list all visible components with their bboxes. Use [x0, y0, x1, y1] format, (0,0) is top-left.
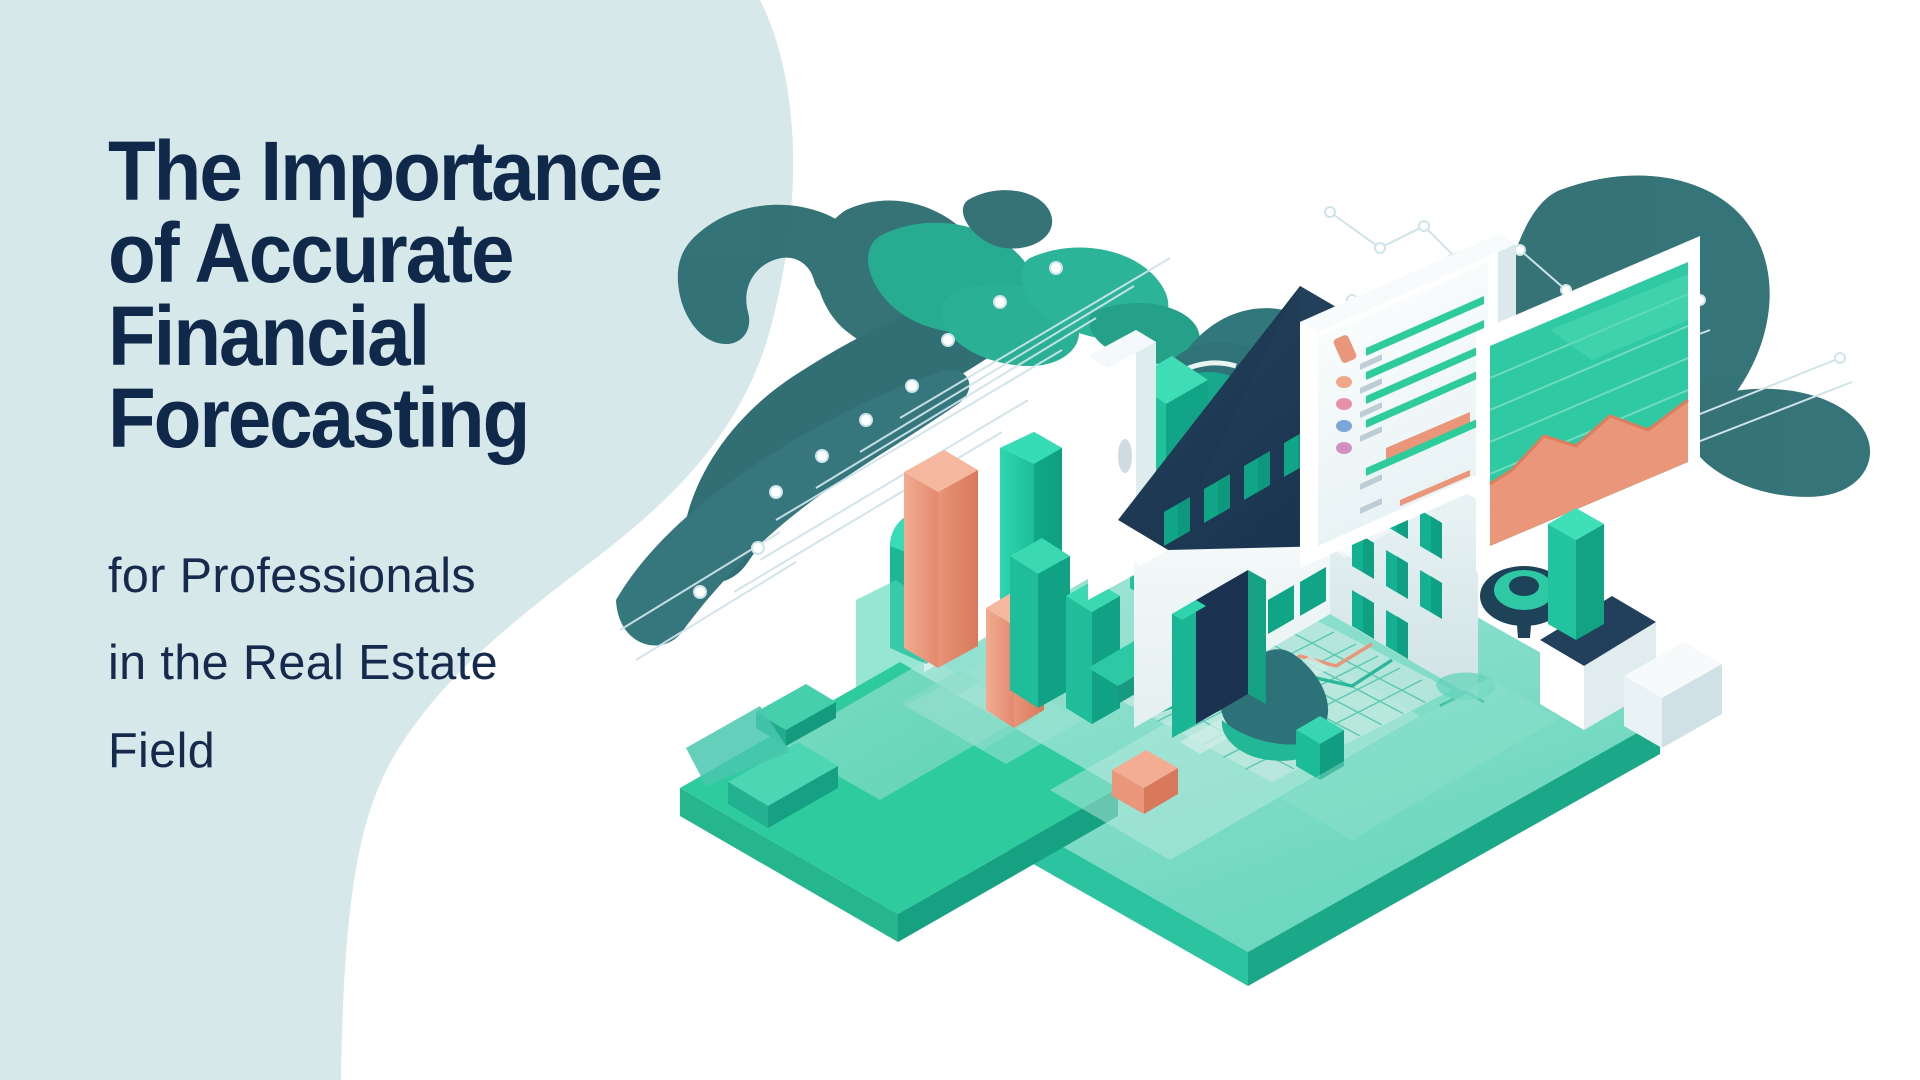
window-shade — [1363, 536, 1374, 579]
hero-text-block: The Importance of Accurate Financial For… — [108, 130, 958, 795]
swoosh-right-tail — [1687, 389, 1870, 497]
legend-dot-1 — [1336, 376, 1352, 388]
net-dot — [994, 296, 1006, 308]
window-shade — [1397, 556, 1408, 599]
house-door-frame-left — [1172, 600, 1196, 738]
legend-dot-4 — [1336, 442, 1352, 454]
net-dot — [1515, 245, 1525, 255]
window-shade — [1431, 576, 1442, 619]
front-right-foliage — [1548, 508, 1604, 640]
window-shade — [1397, 616, 1408, 659]
house-door-frame-right — [1248, 570, 1266, 704]
legend-dot-2 — [1336, 398, 1352, 410]
page-title: The Importance of Accurate Financial For… — [108, 130, 899, 459]
window-shade — [1218, 474, 1230, 515]
window-shade — [1178, 497, 1190, 538]
net-dot — [1419, 221, 1429, 231]
pillar-right-1 — [1038, 556, 1070, 708]
salmon-tower2-left — [986, 608, 1014, 728]
net-dot — [1050, 262, 1062, 274]
window-shade — [1258, 451, 1270, 492]
pillar-left-1 — [1010, 556, 1038, 708]
legend-dot-3 — [1336, 420, 1352, 432]
tree-col-left — [1548, 524, 1576, 640]
net-dot — [1835, 353, 1845, 363]
gauge-stem — [1516, 612, 1532, 638]
poster-canvas: The Importance of Accurate Financial For… — [0, 0, 1920, 1080]
window-shade — [1363, 596, 1374, 639]
gauge-center — [1509, 576, 1539, 596]
net-dot — [1325, 207, 1335, 217]
net-dot — [1375, 243, 1385, 253]
window-shade — [1431, 516, 1442, 559]
page-subtitle: for Professionals in the Real Estate Fie… — [108, 533, 950, 795]
tree-col-right — [1576, 524, 1604, 640]
panel-dot — [1118, 439, 1132, 473]
pillar-left-2 — [1066, 596, 1092, 724]
